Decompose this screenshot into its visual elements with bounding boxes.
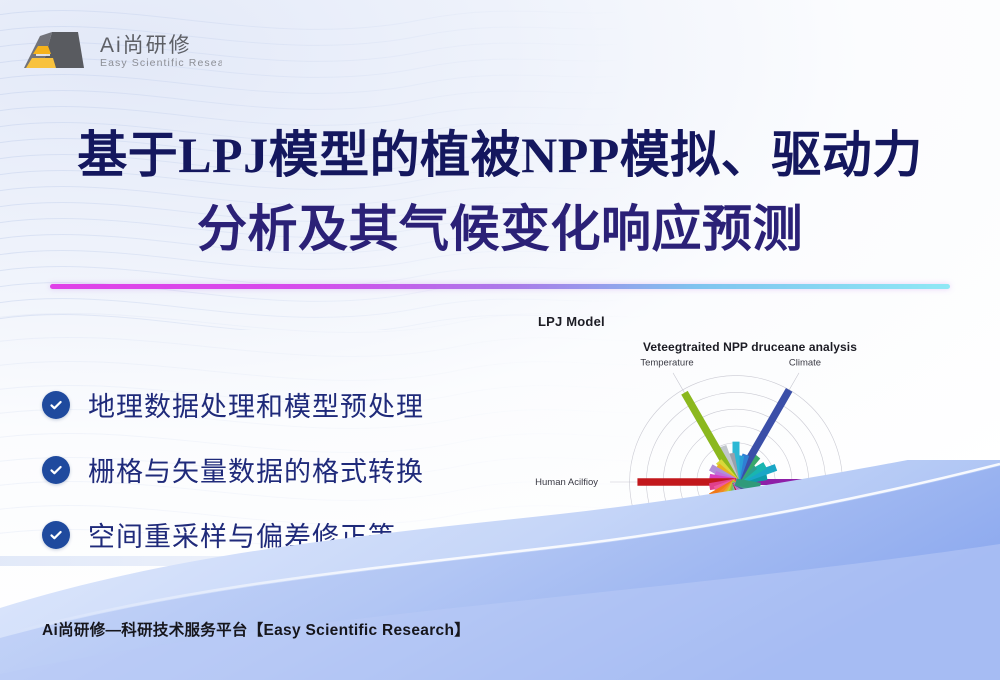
logo-mountain-icon xyxy=(24,32,84,68)
check-circle-icon xyxy=(42,391,70,419)
title-line-2: 分析及其气候变化响应预测 xyxy=(0,192,1000,266)
svg-text:Easy Scientific Research: Easy Scientific Research xyxy=(100,57,222,69)
list-item-label: 栅格与矢量数据的格式转换 xyxy=(88,450,424,489)
axis-tick-label: Temperature xyxy=(640,357,693,368)
list-item: 空间重采样与偏差修正等 xyxy=(42,515,472,554)
polar-bar xyxy=(736,482,760,486)
list-item-label: 空间重采样与偏差修正等 xyxy=(88,515,396,554)
svg-text:Ai尚研修: Ai尚研修 xyxy=(100,34,192,57)
check-circle-icon xyxy=(42,521,70,549)
title-line-1: 基于LPJ模型的植被NPP模拟、驱动力 xyxy=(0,118,1000,192)
gradient-divider xyxy=(50,284,950,289)
chart-panel: LPJ Model Veteegtraited NPP druceane ana… xyxy=(520,312,980,612)
list-item-label: 地理数据处理和模型预处理 xyxy=(88,385,424,424)
slide-root: Ai尚研修 Easy Scientific Research 基于LPJ模型的植… xyxy=(0,0,1000,680)
footer-text: Ai尚研修—科研技术服务平台【Easy Scientific Research】 xyxy=(42,618,470,640)
axis-tick-label: Caohiq xyxy=(790,597,820,608)
background-band xyxy=(0,556,1000,566)
polar-bar-chart: TemperatureClimateFactor›CaohiqCo₂ C·Hum… xyxy=(520,352,980,612)
list-item: 栅格与矢量数据的格式转换 xyxy=(42,450,472,489)
check-circle-icon xyxy=(42,456,70,484)
brand-logo: Ai尚研修 Easy Scientific Research xyxy=(22,24,222,76)
page-title: 基于LPJ模型的植被NPP模拟、驱动力 分析及其气候变化响应预测 xyxy=(0,118,1000,266)
bullet-list: 地理数据处理和模型预处理 栅格与矢量数据的格式转换 空间重采样与偏差修正等 xyxy=(42,385,472,580)
chart-kicker: LPJ Model xyxy=(538,314,605,329)
axis-tick-label: Co₂ C· xyxy=(653,597,682,608)
axis-tick-label: Climate xyxy=(789,357,821,368)
list-item: 地理数据处理和模型预处理 xyxy=(42,385,472,424)
axis-tick-label: Human Acilfioy xyxy=(535,477,598,488)
axis-tick-label: Factor› xyxy=(874,477,904,488)
